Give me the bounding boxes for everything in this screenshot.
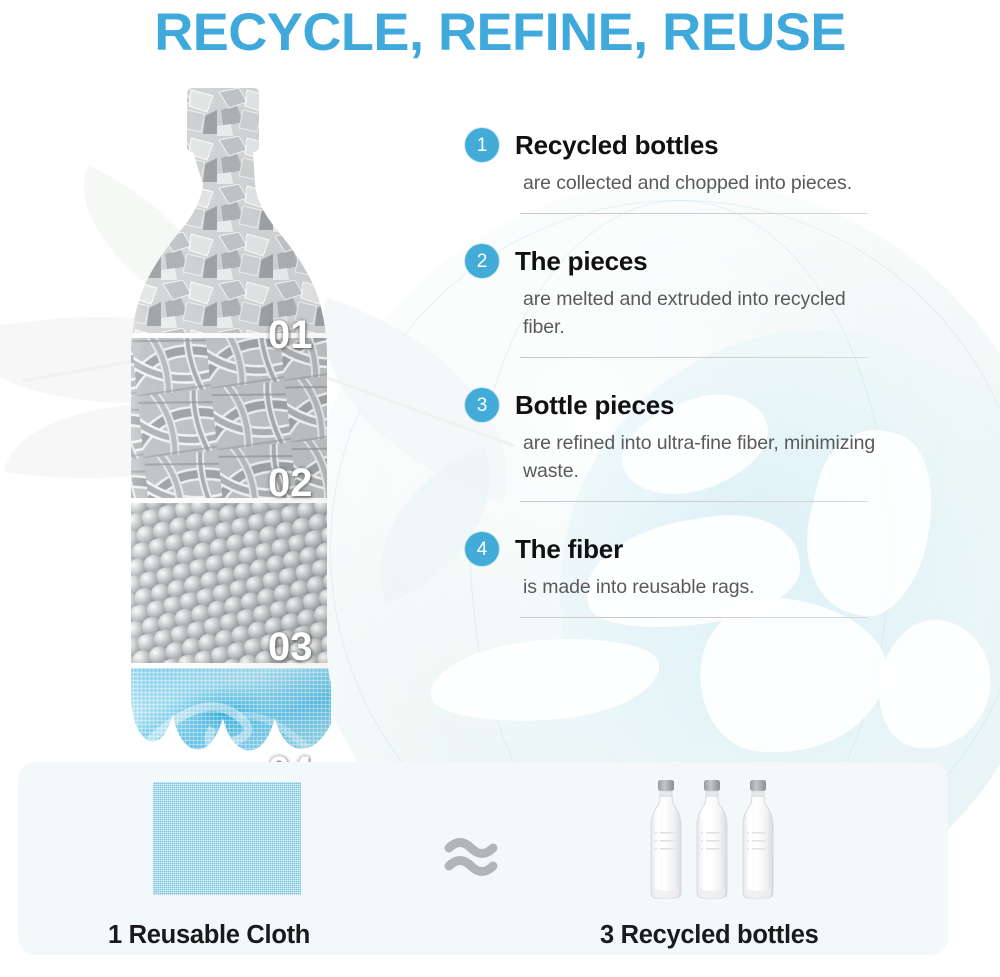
process-step-3: 3 Bottle pieces are refined into ultra-f… bbox=[465, 388, 885, 502]
bottle-icon-2 bbox=[697, 780, 727, 898]
step-3-header: 3 Bottle pieces bbox=[465, 388, 885, 422]
step-3-number-badge: 3 bbox=[465, 388, 499, 422]
page-title: RECYCLE, REFINE, REUSE bbox=[0, 2, 1000, 63]
step-3-title: Bottle pieces bbox=[515, 390, 674, 421]
bottle-collage-svg bbox=[105, 88, 395, 760]
process-steps-list: 1 Recycled bottles are collected and cho… bbox=[465, 128, 885, 618]
step-4-header: 4 The fiber bbox=[465, 532, 885, 566]
step-1-header: 1 Recycled bottles bbox=[465, 128, 885, 162]
bottle-band-number-01: 01 bbox=[268, 313, 313, 358]
process-step-2: 2 The pieces are melted and extruded int… bbox=[465, 244, 885, 358]
step-4-body: is made into reusable rags. bbox=[523, 573, 885, 601]
approximately-equal-symbol bbox=[441, 826, 501, 886]
step-2-divider bbox=[520, 357, 868, 358]
recycled-bottles-icon-group bbox=[646, 778, 806, 900]
approx-icon-svg bbox=[441, 826, 501, 886]
bottle-icon-1 bbox=[651, 780, 681, 898]
step-4-number-badge: 4 bbox=[465, 532, 499, 566]
step-2-body: are melted and extruded into recycled fi… bbox=[523, 285, 885, 341]
bottle-band-number-02: 02 bbox=[268, 461, 313, 506]
step-2-title: The pieces bbox=[515, 246, 647, 277]
step-3-body: are refined into ultra-fine fiber, minim… bbox=[523, 429, 885, 485]
step-2-number-badge: 2 bbox=[465, 244, 499, 278]
step-4-title: The fiber bbox=[515, 534, 623, 565]
step-3-divider bbox=[520, 501, 868, 502]
step-1-title: Recycled bottles bbox=[515, 130, 718, 161]
right-caption: 3 Recycled bottles bbox=[600, 921, 819, 950]
process-step-4: 4 The fiber is made into reusable rags. bbox=[465, 532, 885, 618]
left-caption: 1 Reusable Cloth bbox=[108, 921, 310, 950]
cloth-swatch-icon bbox=[153, 782, 301, 895]
bottle-collage-figure: 01 02 03 04 bbox=[105, 88, 395, 760]
bottle-bands-group bbox=[105, 88, 395, 760]
process-step-1: 1 Recycled bottles are collected and cho… bbox=[465, 128, 885, 214]
page-title-text: RECYCLE, REFINE, REUSE bbox=[154, 2, 846, 63]
step-1-divider bbox=[520, 213, 868, 214]
step-4-divider bbox=[520, 617, 868, 618]
three-bottles-svg bbox=[646, 778, 806, 900]
bottle-band-number-03: 03 bbox=[268, 625, 313, 670]
step-2-header: 2 The pieces bbox=[465, 244, 885, 278]
step-1-body: are collected and chopped into pieces. bbox=[523, 169, 885, 197]
bottle-icon-3 bbox=[743, 780, 773, 898]
step-1-number-badge: 1 bbox=[465, 128, 499, 162]
